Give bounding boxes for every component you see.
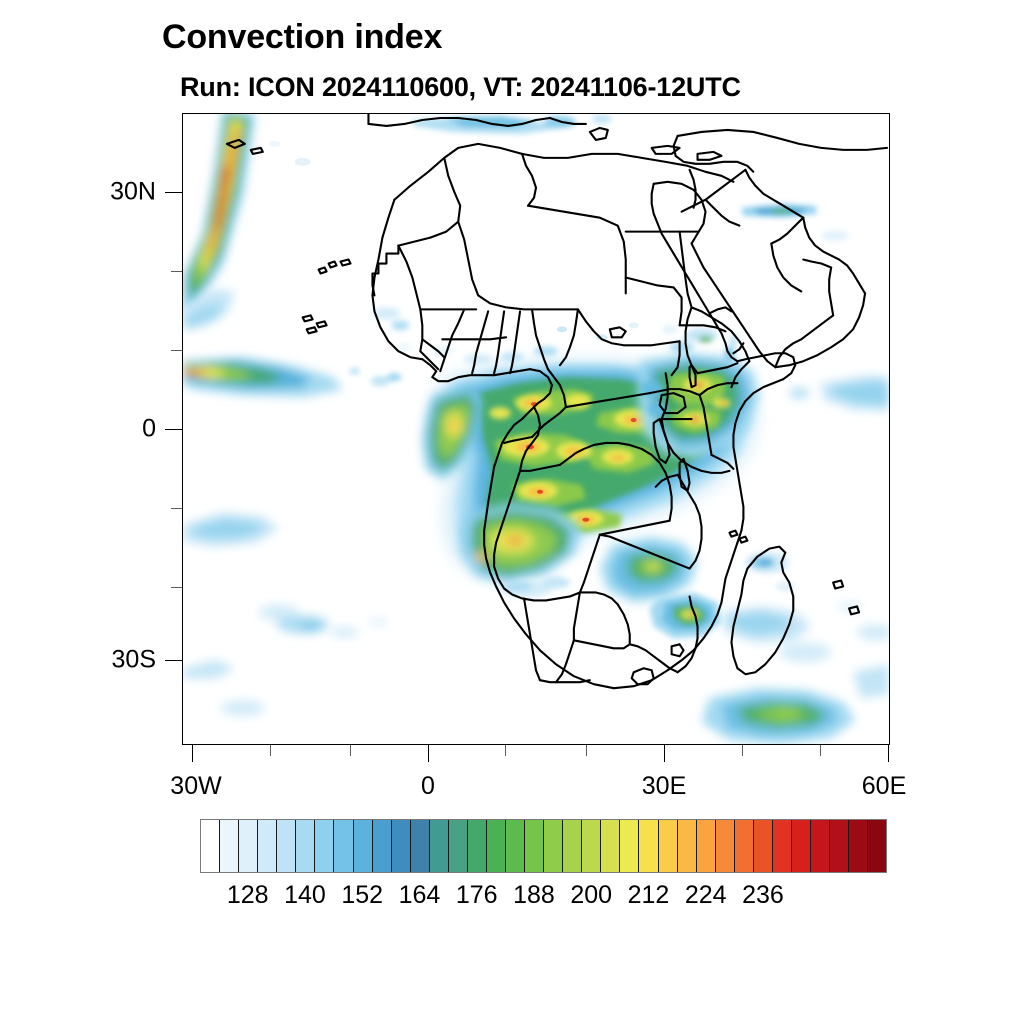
y-ticklabel-30s: 30S [98, 646, 156, 675]
x-tick-30w [192, 745, 193, 762]
y-tick-30s [165, 660, 182, 661]
x-tick-0 [428, 745, 429, 762]
colorbar-cell [334, 820, 353, 872]
colorbar-ticklabel: 176 [456, 881, 498, 910]
colorbar-ticklabel: 152 [341, 881, 383, 910]
colorbar-cell [811, 820, 830, 872]
colorbar: 128140152164176188200212224236 [200, 819, 887, 873]
map-plot-area [182, 113, 890, 745]
colorbar-ticklabel: 212 [628, 881, 670, 910]
colorbar-cell [449, 820, 468, 872]
colorbar-cell [373, 820, 392, 872]
x-ticklabel-0: 0 [421, 772, 435, 801]
page-title: Convection index [162, 18, 442, 57]
colorbar-cell [525, 820, 544, 872]
colorbar-cell [430, 820, 449, 872]
colorbar-cell [659, 820, 678, 872]
x-ticklabel-30w: 30W [170, 772, 221, 801]
x-ticklabel-30e: 30E [642, 772, 686, 801]
colorbar-cell [830, 820, 849, 872]
colorbar-cell [201, 820, 220, 872]
colorbar-cell [544, 820, 563, 872]
colorbar-cell [296, 820, 315, 872]
colorbar-ticklabel: 188 [513, 881, 555, 910]
colorbar-cell [773, 820, 792, 872]
y-tick-minor-top [171, 350, 182, 351]
colorbar-cell [277, 820, 296, 872]
convection-index-figure: Convection index Run: ICON 2024110600, V… [0, 0, 1024, 1024]
x-tick-60e [888, 745, 889, 762]
map-canvas [183, 114, 889, 744]
colorbar-cell [601, 820, 620, 872]
colorbar-cell [239, 820, 258, 872]
y-tick-30n [165, 192, 182, 193]
colorbar-cell [754, 820, 773, 872]
colorbar-cell [620, 820, 639, 872]
x-tick-15e [505, 745, 506, 756]
colorbar-cell [563, 820, 582, 872]
colorbar-cell [220, 820, 239, 872]
y-tick-minor-bottom [171, 587, 182, 588]
y-ticklabel-30n: 30N [98, 178, 156, 207]
colorbar-cell [849, 820, 868, 872]
colorbar-cell [716, 820, 735, 872]
colorbar-ticklabel: 140 [284, 881, 326, 910]
colorbar-swatches [200, 819, 887, 873]
colorbar-ticklabel: 200 [570, 881, 612, 910]
colorbar-cell [582, 820, 601, 872]
x-tick-45e [742, 745, 743, 756]
figure-subtitle: Run: ICON 2024110600, VT: 20241106-12UTC [180, 72, 741, 103]
colorbar-cell [697, 820, 716, 872]
colorbar-cell [639, 820, 658, 872]
colorbar-ticklabel: 224 [685, 881, 727, 910]
colorbar-cell [678, 820, 697, 872]
colorbar-cell [487, 820, 506, 872]
y-ticklabel-0: 0 [98, 415, 156, 444]
colorbar-ticklabel: 236 [742, 881, 784, 910]
colorbar-ticklabel: 164 [399, 881, 441, 910]
colorbar-cell [411, 820, 430, 872]
colorbar-cell [354, 820, 373, 872]
colorbar-cell [392, 820, 411, 872]
y-tick-15s [171, 508, 182, 509]
x-tick-15w [270, 745, 271, 756]
colorbar-cell [315, 820, 334, 872]
y-tick-15n [171, 271, 182, 272]
x-tick-minor-c [820, 745, 821, 756]
x-tick-minor-b [586, 745, 587, 756]
x-tick-minor-a [350, 745, 351, 756]
convection-field-layer [183, 114, 889, 744]
x-tick-30e [664, 745, 665, 762]
colorbar-cell [792, 820, 811, 872]
colorbar-ticklabel: 128 [227, 881, 269, 910]
colorbar-cell [735, 820, 754, 872]
colorbar-cell [868, 820, 886, 872]
colorbar-cell [468, 820, 487, 872]
colorbar-cell [258, 820, 277, 872]
y-tick-0 [165, 429, 182, 430]
colorbar-cell [506, 820, 525, 872]
x-ticklabel-60e: 60E [862, 772, 906, 801]
